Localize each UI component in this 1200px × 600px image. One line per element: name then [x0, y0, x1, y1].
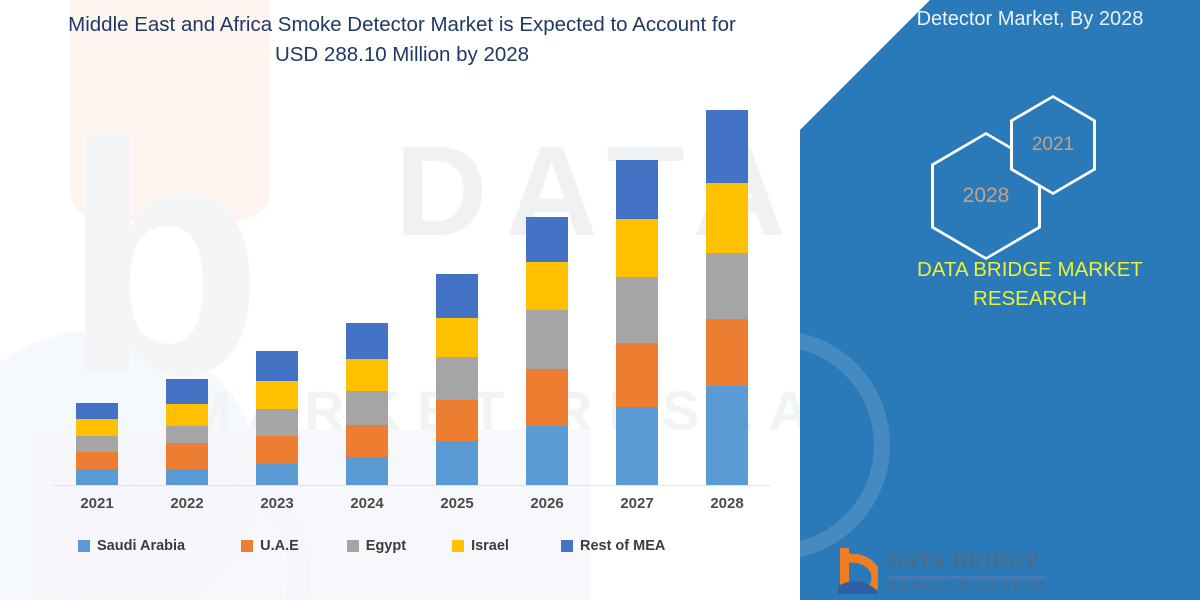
x-axis-label-2025: 2025: [422, 495, 492, 512]
bar-segment-2022-rest-of-mea[interactable]: [166, 379, 208, 404]
bar-segment-2021-egypt[interactable]: [76, 436, 118, 452]
bar-2026[interactable]: [526, 217, 568, 485]
bar-segment-2024-saudi-arabia[interactable]: [346, 457, 388, 485]
bar-segment-2027-u-a-e[interactable]: [616, 343, 658, 407]
chart-baseline: [52, 485, 770, 486]
x-axis-label-2028: 2028: [692, 495, 762, 512]
legend-item-saudi-arabia[interactable]: Saudi Arabia: [78, 538, 185, 554]
x-axis-label-2027: 2027: [602, 495, 672, 512]
bar-segment-2023-egypt[interactable]: [256, 409, 298, 436]
bar-segment-2021-u-a-e[interactable]: [76, 452, 118, 469]
legend-item-egypt[interactable]: Egypt: [347, 538, 406, 554]
bar-segment-2021-saudi-arabia[interactable]: [76, 469, 118, 485]
company-logo: DATA BRIDGE MARKET RESEARCH: [838, 548, 1046, 594]
bar-2024[interactable]: [346, 323, 388, 485]
x-axis-label-2026: 2026: [512, 495, 582, 512]
hexagon-label-2021: 2021: [1032, 134, 1074, 156]
legend-label: Israel: [471, 538, 509, 554]
chart-panel: b DATA BRIDGE MARKET RESEARCH Middle Eas…: [0, 0, 860, 600]
bar-segment-2025-rest-of-mea[interactable]: [436, 274, 478, 318]
bar-segment-2026-u-a-e[interactable]: [526, 369, 568, 426]
bar-2027[interactable]: [616, 160, 658, 485]
right-panel-heading: Detector Market, By 2028: [800, 8, 1200, 31]
legend-swatch-icon: [452, 540, 464, 552]
bar-segment-2022-israel[interactable]: [166, 404, 208, 427]
bar-segment-2024-u-a-e[interactable]: [346, 425, 388, 457]
x-axis-label-2021: 2021: [62, 495, 132, 512]
legend-item-israel[interactable]: Israel: [452, 538, 509, 554]
bar-segment-2026-rest-of-mea[interactable]: [526, 217, 568, 262]
legend-swatch-icon: [78, 540, 90, 552]
bar-segment-2028-egypt[interactable]: [706, 253, 748, 319]
bar-segment-2025-saudi-arabia[interactable]: [436, 441, 478, 485]
bar-segment-2028-u-a-e[interactable]: [706, 319, 748, 386]
hexagon-2021: 2021: [1010, 95, 1096, 195]
legend-label: Saudi Arabia: [97, 538, 185, 554]
bar-segment-2028-saudi-arabia[interactable]: [706, 386, 748, 485]
chart-legend: Saudi ArabiaU.A.EEgyptIsraelRest of MEA: [78, 538, 665, 554]
chart-plot-area: [52, 110, 772, 485]
legend-swatch-icon: [347, 540, 359, 552]
x-axis-label-2022: 2022: [152, 495, 222, 512]
bar-segment-2025-israel[interactable]: [436, 318, 478, 357]
bar-segment-2028-israel[interactable]: [706, 183, 748, 253]
bar-segment-2028-rest-of-mea[interactable]: [706, 110, 748, 183]
bar-segment-2021-israel[interactable]: [76, 419, 118, 436]
bar-segment-2023-rest-of-mea[interactable]: [256, 351, 298, 381]
legend-item-rest-of-mea[interactable]: Rest of MEA: [561, 538, 665, 554]
logo-subtitle: MARKET RESEARCH: [887, 580, 1046, 592]
bar-segment-2026-egypt[interactable]: [526, 310, 568, 369]
bar-segment-2023-saudi-arabia[interactable]: [256, 464, 298, 485]
bar-segment-2026-israel[interactable]: [526, 262, 568, 310]
bar-2021[interactable]: [76, 403, 118, 485]
bar-2025[interactable]: [436, 274, 478, 485]
bar-2028[interactable]: [706, 110, 748, 485]
bar-segment-2027-israel[interactable]: [616, 219, 658, 277]
bar-segment-2024-israel[interactable]: [346, 359, 388, 391]
bar-segment-2027-saudi-arabia[interactable]: [616, 407, 658, 485]
chart-x-axis: 20212022202320242025202620272028: [52, 495, 772, 525]
legend-label: Egypt: [366, 538, 406, 554]
infographic-root: b DATA BRIDGE MARKET RESEARCH Middle Eas…: [0, 0, 1200, 600]
bar-segment-2023-u-a-e[interactable]: [256, 436, 298, 464]
bar-segment-2024-rest-of-mea[interactable]: [346, 323, 388, 358]
bar-segment-2027-egypt[interactable]: [616, 277, 658, 343]
bar-segment-2022-u-a-e[interactable]: [166, 443, 208, 469]
bar-segment-2023-israel[interactable]: [256, 381, 298, 409]
bar-2023[interactable]: [256, 351, 298, 485]
bar-segment-2025-egypt[interactable]: [436, 357, 478, 401]
legend-swatch-icon: [561, 540, 573, 552]
chart-title: Middle East and Africa Smoke Detector Ma…: [52, 10, 752, 70]
x-axis-label-2023: 2023: [242, 495, 312, 512]
logo-mark-icon: [838, 548, 878, 594]
bar-2022[interactable]: [166, 379, 208, 485]
bar-segment-2026-saudi-arabia[interactable]: [526, 426, 568, 485]
bar-segment-2022-egypt[interactable]: [166, 426, 208, 443]
hexagon-label-2028: 2028: [963, 184, 1010, 208]
bar-segment-2025-u-a-e[interactable]: [436, 400, 478, 441]
bar-segment-2027-rest-of-mea[interactable]: [616, 160, 658, 218]
legend-swatch-icon: [241, 540, 253, 552]
bar-segment-2021-rest-of-mea[interactable]: [76, 403, 118, 419]
logo-text: DATA BRIDGE MARKET RESEARCH: [887, 549, 1046, 594]
legend-label: Rest of MEA: [580, 538, 665, 554]
legend-item-u-a-e[interactable]: U.A.E: [241, 538, 299, 554]
brand-name: DATA BRIDGE MARKET RESEARCH: [860, 255, 1200, 313]
bar-segment-2024-egypt[interactable]: [346, 391, 388, 425]
x-axis-label-2024: 2024: [332, 495, 402, 512]
bar-segment-2022-saudi-arabia[interactable]: [166, 469, 208, 485]
logo-rule: [887, 576, 1046, 579]
logo-title: DATA BRIDGE: [887, 549, 1046, 574]
legend-label: U.A.E: [260, 538, 299, 554]
